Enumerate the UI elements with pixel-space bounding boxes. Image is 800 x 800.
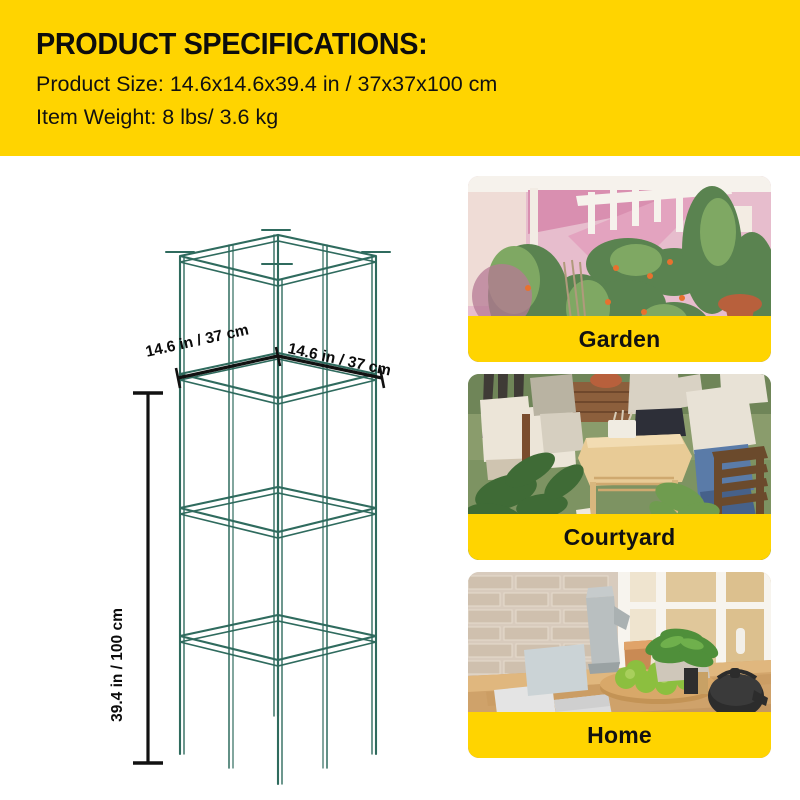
header-band: PRODUCT SPECIFICATIONS: Product Size: 14… bbox=[0, 0, 800, 156]
dimension-label-height: 39.4 in / 100 cm bbox=[109, 608, 127, 722]
item-weight-text: Item Weight: 8 lbs/ 3.6 kg bbox=[36, 105, 278, 130]
product-spec-infographic: PRODUCT SPECIFICATIONS: Product Size: 14… bbox=[0, 0, 800, 800]
use-case-label-courtyard: Courtyard bbox=[468, 514, 771, 560]
product-size-text: Product Size: 14.6x14.6x39.4 in / 37x37x… bbox=[36, 72, 497, 97]
use-case-label-home: Home bbox=[468, 712, 771, 758]
page-title: PRODUCT SPECIFICATIONS: bbox=[36, 26, 427, 62]
cage-posts bbox=[180, 235, 376, 784]
dimension-top-left bbox=[176, 347, 280, 388]
product-diagram: 14.6 in / 37 cm 14.6 in / 37 cm 39.4 in … bbox=[0, 156, 455, 800]
dimension-vertical bbox=[133, 392, 163, 764]
cage-wireframe bbox=[166, 230, 390, 784]
use-case-card-courtyard[interactable]: Courtyard bbox=[468, 374, 771, 560]
use-case-card-garden[interactable]: Garden bbox=[468, 176, 771, 362]
cage-drawing bbox=[0, 156, 455, 800]
use-case-label-garden: Garden bbox=[468, 316, 771, 362]
dimension-lines bbox=[133, 347, 384, 764]
use-case-card-home[interactable]: Home bbox=[468, 572, 771, 758]
